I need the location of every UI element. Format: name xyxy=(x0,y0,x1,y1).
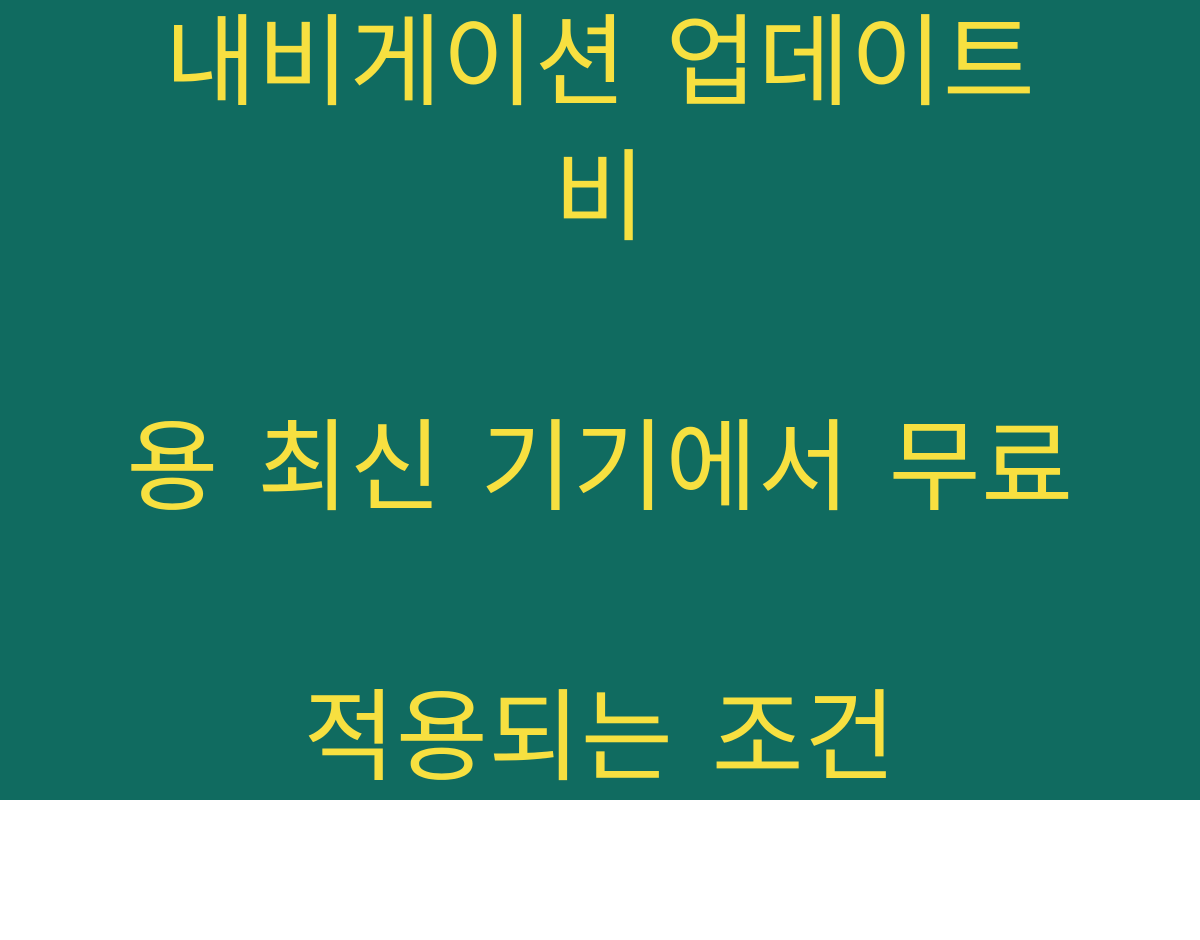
headline-line-3: 적용되는 조건 xyxy=(100,670,1100,805)
headline-line-2: 용 최신 기기에서 무료 xyxy=(100,400,1100,535)
headline-line-1: 내비게이션 업데이트 비 xyxy=(100,0,1100,265)
headline-text: 내비게이션 업데이트 비 용 최신 기기에서 무료 적용되는 조건 xyxy=(100,0,1100,940)
banner-canvas: 내비게이션 업데이트 비 용 최신 기기에서 무료 적용되는 조건 xyxy=(0,0,1200,800)
